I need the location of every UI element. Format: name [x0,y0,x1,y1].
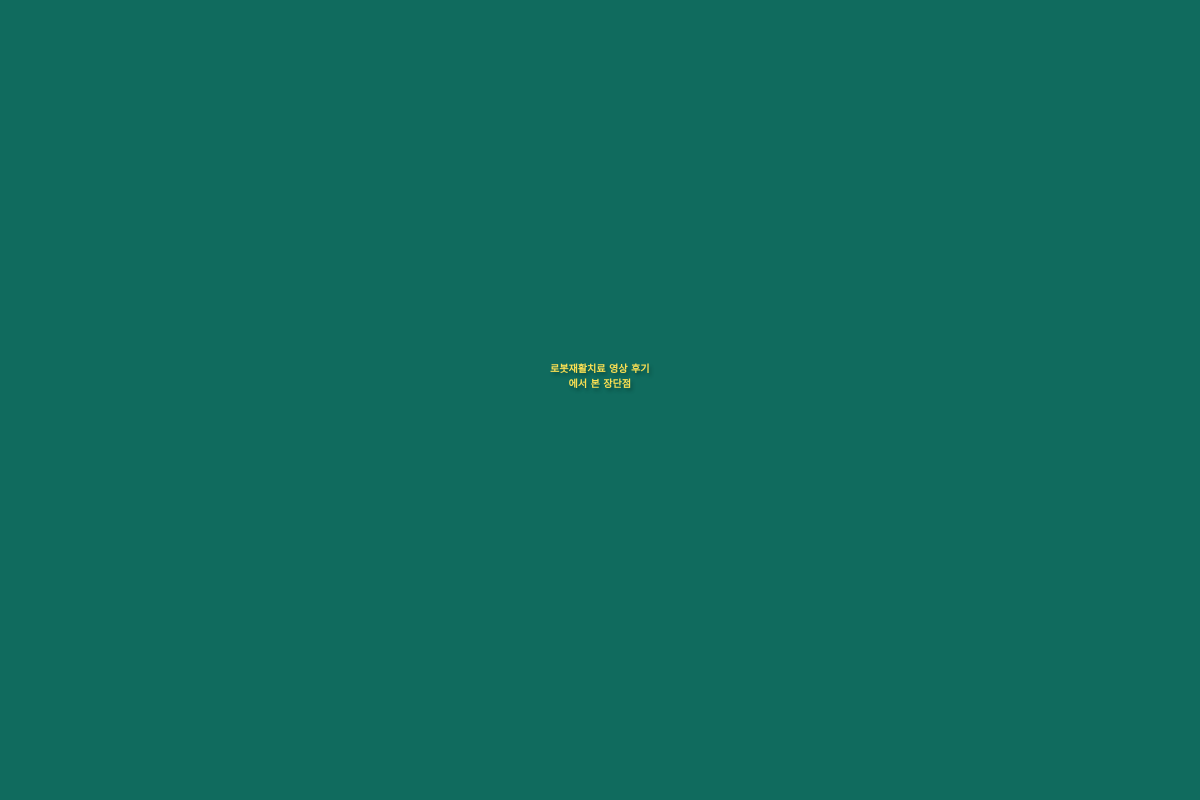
title-banner: 로봇재활치료 영상 후기 에서 본 장단점 [0,0,1200,800]
banner-title-line-1: 로봇재활치료 영상 후기 [40,364,1160,377]
banner-title-block: 로봇재활치료 영상 후기 에서 본 장단점 [0,364,1200,392]
banner-title-line-2: 에서 본 장단점 [40,379,1160,392]
